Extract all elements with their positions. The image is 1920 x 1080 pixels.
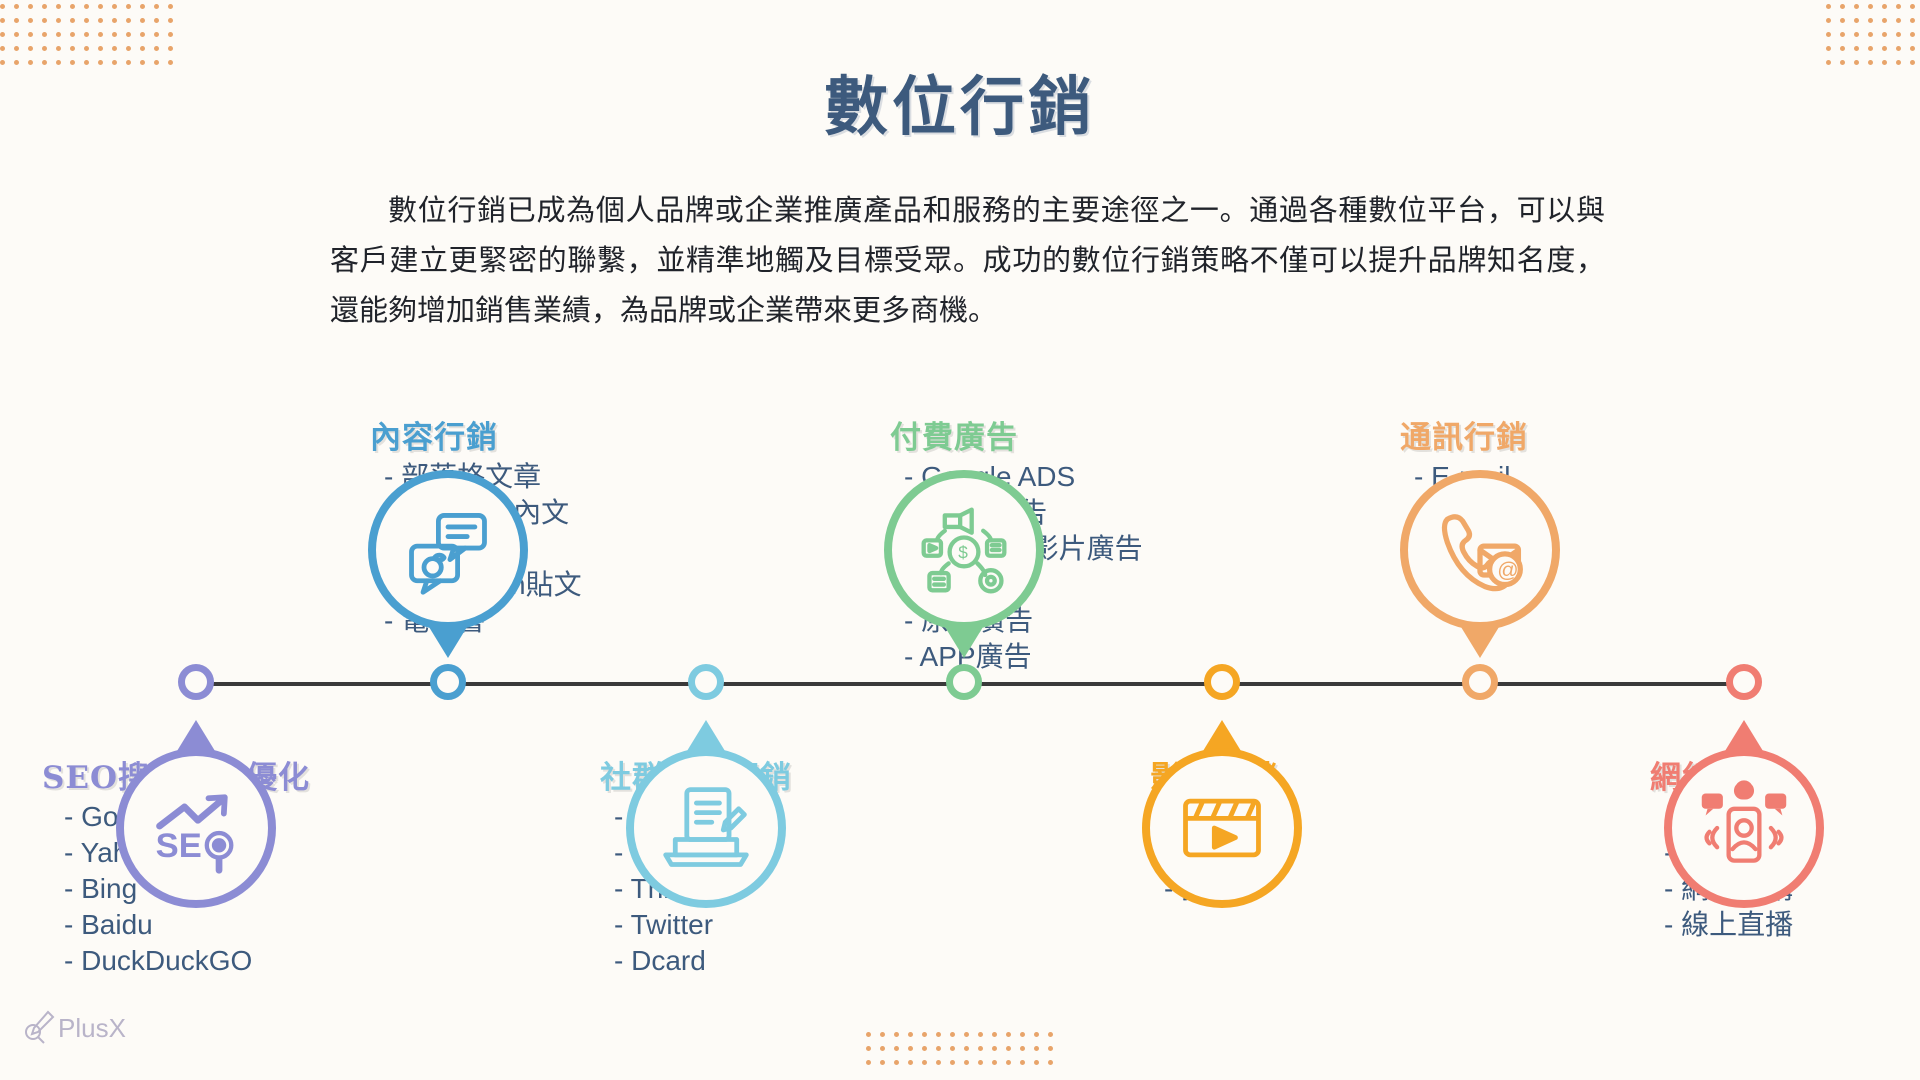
seo-trend-magnifier-icon: SE (148, 780, 244, 876)
dot-pattern-top-left (0, 4, 180, 64)
timeline-node-paid[interactable] (946, 664, 982, 700)
infographic-canvas: 數位行銷 數位行銷已成為個人品牌或企業推廣產品和服務的主要途徑之一。通過各種數位… (0, 0, 1920, 1080)
list-item: - DuckDuckGO (64, 943, 342, 979)
list-item: - Baidu (64, 907, 342, 943)
svg-text:$: $ (958, 543, 968, 563)
speech-bubbles-icon (400, 502, 496, 598)
dot-pattern-bottom (866, 1032, 1056, 1076)
pin-bubble (1664, 748, 1824, 908)
info-block-title: 通訊行銷 (1400, 412, 1700, 457)
svg-text:SE: SE (156, 827, 202, 865)
laptop-document-pen-icon (658, 780, 754, 876)
info-block-title: 付費廣告 (890, 412, 1190, 457)
brand-logo-text: PlusX (58, 1013, 126, 1044)
intro-paragraph: 數位行銷已成為個人品牌或企業推廣產品和服務的主要途徑之一。通過各種數位平台，可以… (330, 185, 1605, 335)
svg-text:@: @ (1497, 559, 1518, 582)
timeline-node-messaging[interactable] (1462, 664, 1498, 700)
pin-bubble (626, 748, 786, 908)
brand-logo: PlusX (22, 1010, 126, 1044)
video-player-play-icon (1174, 780, 1270, 876)
list-item: - Dcard (614, 943, 900, 979)
timeline-node-social[interactable] (688, 664, 724, 700)
pin-bubble (368, 470, 528, 630)
timeline-node-video[interactable] (1204, 664, 1240, 700)
pin-bubble (1142, 748, 1302, 908)
pin-marker-content[interactable] (368, 470, 528, 660)
pin-marker-influencer[interactable] (1664, 718, 1824, 908)
timeline-node-seo[interactable] (178, 664, 214, 700)
pin-marker-social[interactable] (626, 718, 786, 908)
pin-bubble: @ (1400, 470, 1560, 630)
timeline-node-influencer[interactable] (1726, 664, 1762, 700)
pin-bubble: SE (116, 748, 276, 908)
pin-marker-seo[interactable]: SE (116, 718, 276, 908)
phone-envelope-at-icon: @ (1432, 502, 1528, 598)
info-block-title: 內容行銷 (370, 412, 670, 457)
pin-bubble: $ (884, 470, 1044, 630)
pin-marker-messaging[interactable]: @ (1400, 470, 1560, 660)
dot-pattern-top-right (1826, 4, 1920, 64)
timeline-node-content[interactable] (430, 664, 466, 700)
pin-marker-video[interactable] (1142, 718, 1302, 908)
list-item: - Twitter (614, 907, 900, 943)
megaphone-ads-network-icon: $ (916, 502, 1012, 598)
phone-hearts-chat-icon (1696, 780, 1792, 876)
list-item: - 線上直播 (1664, 907, 1920, 943)
pin-marker-paid[interactable]: $ (884, 470, 1044, 660)
magnifier-pen-icon (22, 1010, 56, 1044)
page-title: 數位行銷 (0, 56, 1920, 148)
